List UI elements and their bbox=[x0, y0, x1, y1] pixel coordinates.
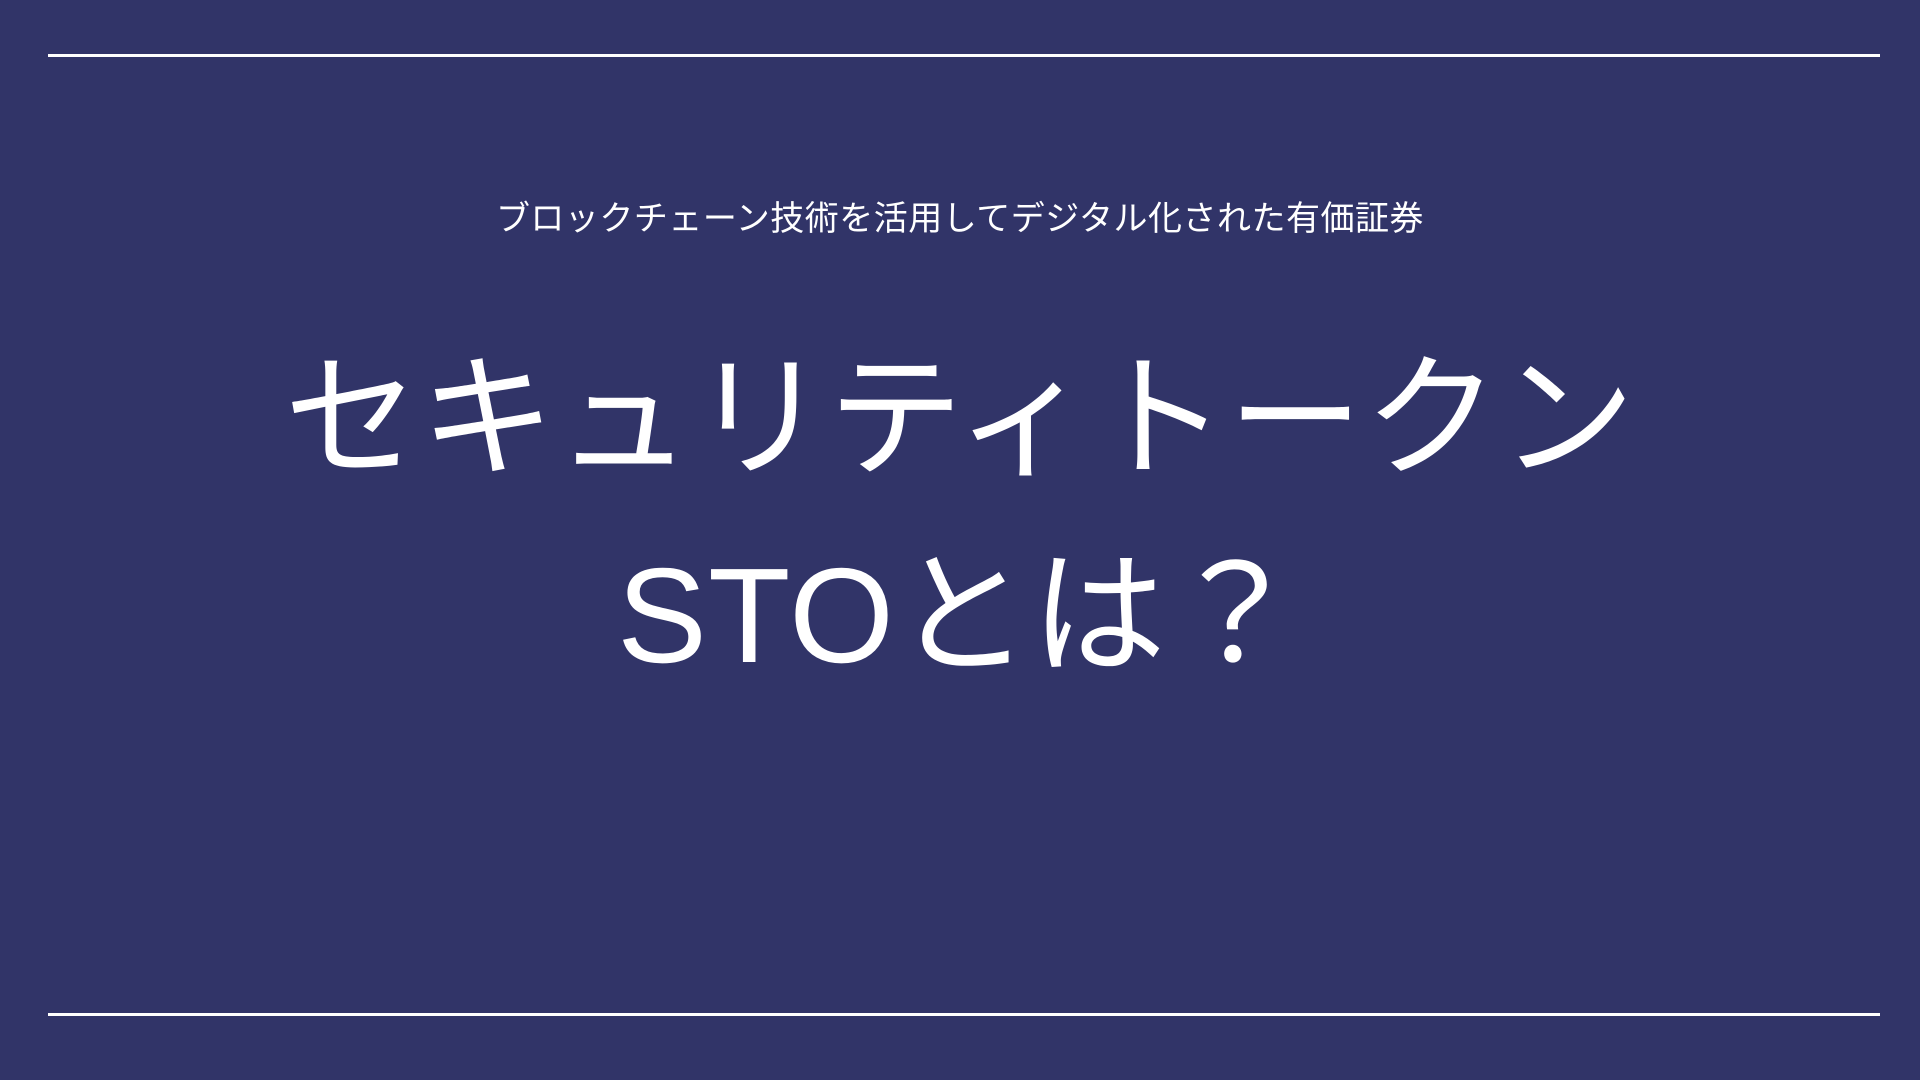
slide-title-line-2: STOとは？ bbox=[0, 517, 1920, 714]
bottom-divider-rule bbox=[48, 1013, 1880, 1016]
slide-title-line-1: セキュリティトークン bbox=[0, 320, 1920, 517]
title-slide: ブロックチェーン技術を活用してデジタル化された有価証券 セキュリティトークン S… bbox=[0, 0, 1920, 1080]
slide-title: セキュリティトークン STOとは？ bbox=[0, 320, 1920, 714]
slide-content: ブロックチェーン技術を活用してデジタル化された有価証券 セキュリティトークン S… bbox=[0, 0, 1920, 1080]
slide-subtitle: ブロックチェーン技術を活用してデジタル化された有価証券 bbox=[0, 198, 1920, 241]
